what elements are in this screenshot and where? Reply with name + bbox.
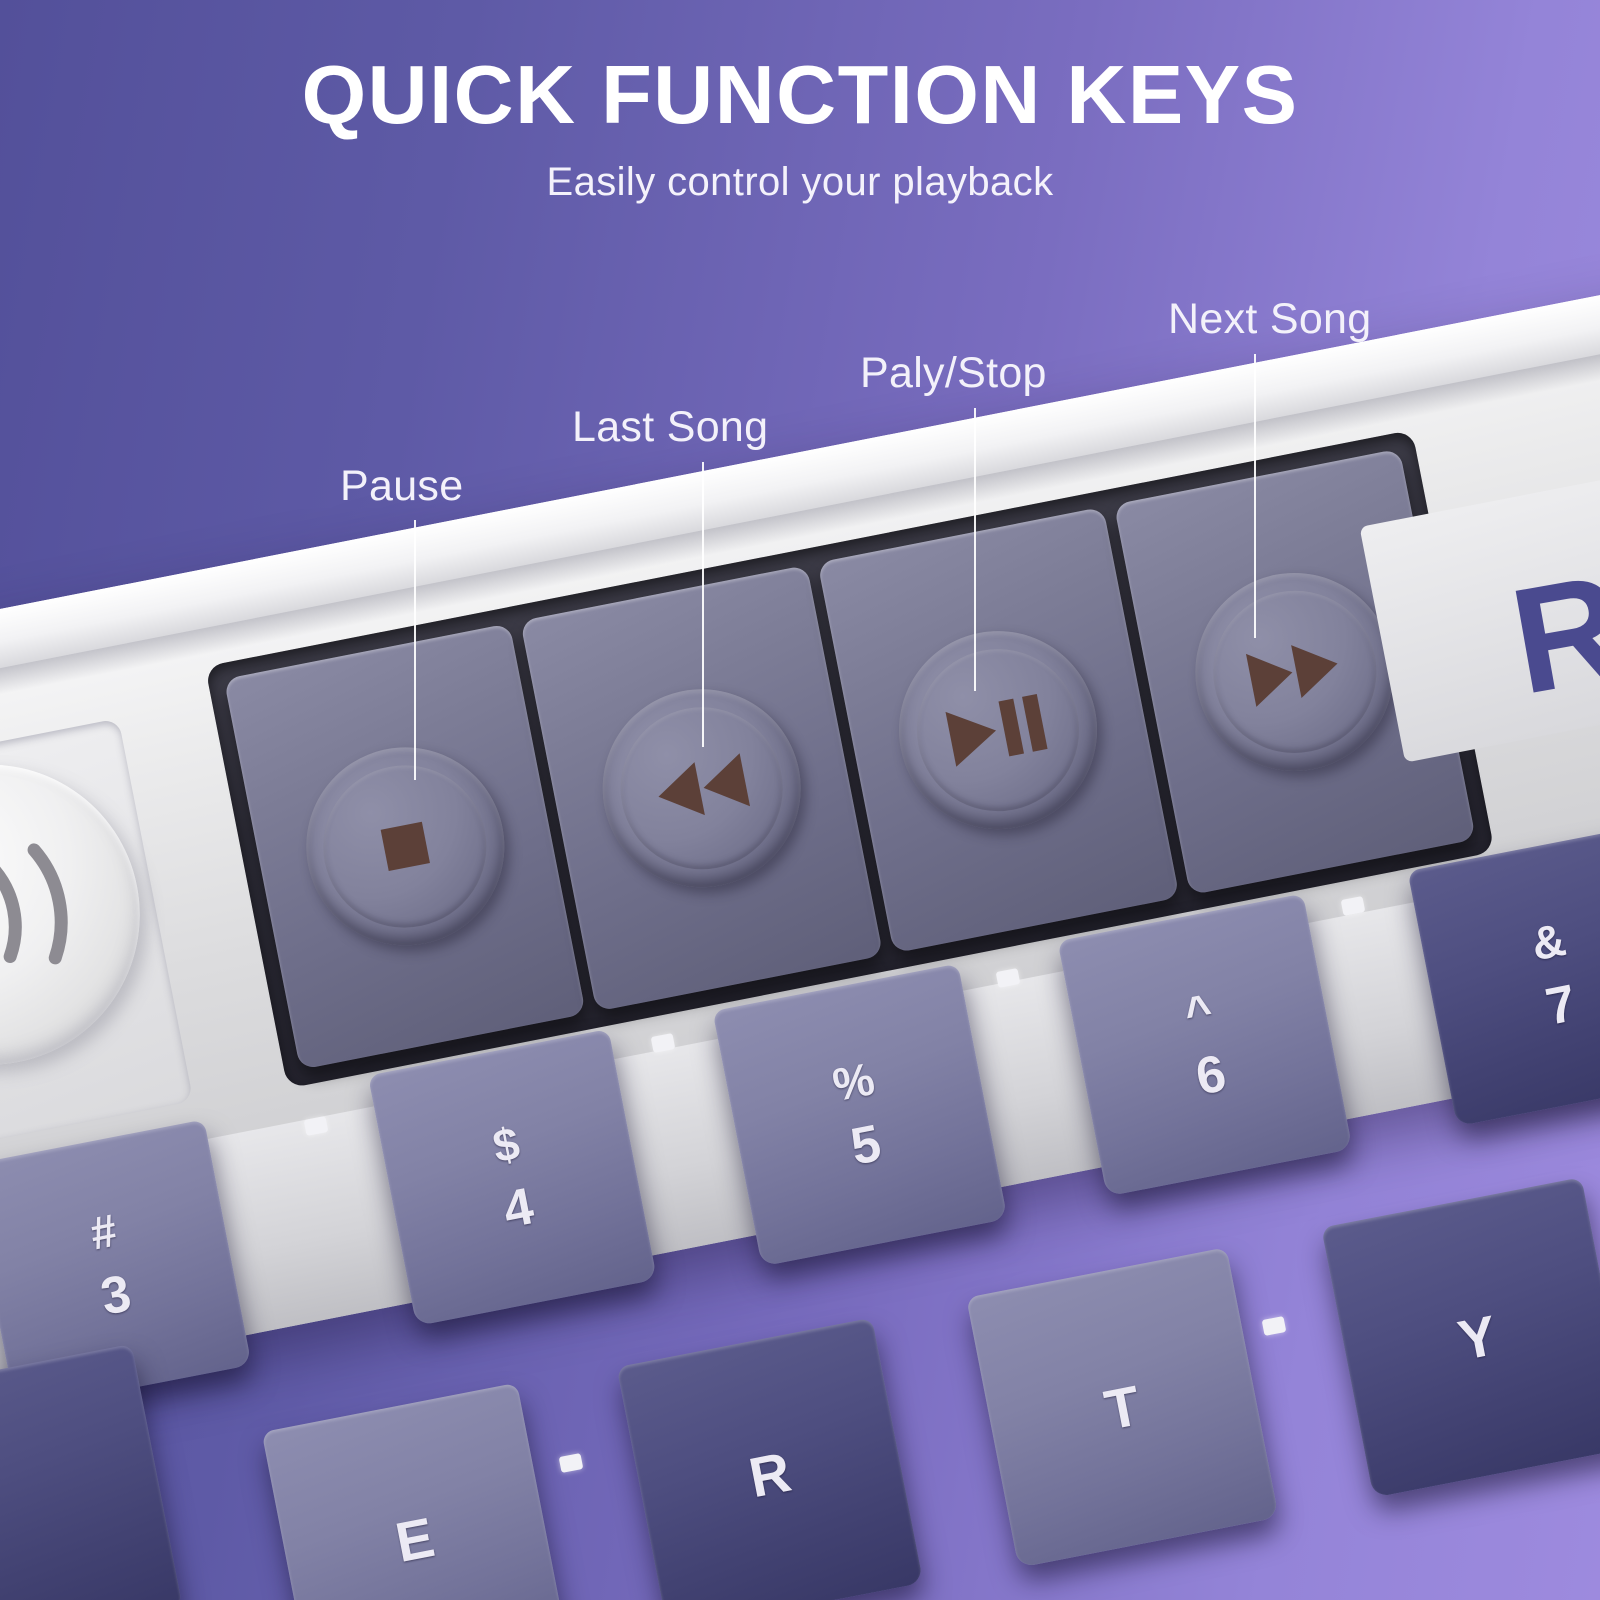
keycap-Y[interactable]: Y [1321, 1177, 1600, 1498]
keycap-base-label: 3 [97, 1267, 135, 1324]
keycap-R[interactable]: R [617, 1318, 924, 1600]
fast-forward-icon [1241, 630, 1348, 713]
last-song-key-disc [585, 672, 817, 904]
switch-stem [559, 1453, 584, 1473]
switch-stem [1262, 1316, 1287, 1336]
play-stop-key-disc [882, 614, 1114, 846]
keycap-T[interactable]: T [966, 1247, 1279, 1568]
keycap-5[interactable]: % 5 [712, 964, 1007, 1267]
keycap-shift-label: % [829, 1055, 878, 1108]
keycap-base-label: E [391, 1509, 438, 1571]
keycap-shift-label: $ [489, 1119, 523, 1169]
keycap-base-label: 5 [847, 1117, 885, 1174]
keycap-shift-label: ^ [1181, 986, 1216, 1036]
page-subtitle: Easily control your playback [0, 160, 1600, 205]
keycap-shift-label: & [1528, 916, 1569, 967]
stop-square-icon [364, 805, 446, 887]
keycap-base-label: 7 [1542, 977, 1580, 1034]
product-photo: R [0, 0, 1600, 1600]
keycap-base-label: 6 [1192, 1047, 1230, 1104]
keycap-base-label: Y [1454, 1306, 1501, 1368]
keycap-base-label: R [745, 1444, 795, 1507]
page-title: QUICK FUNCTION KEYS [0, 52, 1600, 138]
keycap-6[interactable]: ^ 6 [1057, 894, 1352, 1197]
keycap-E[interactable]: E [262, 1383, 569, 1600]
rewind-icon [648, 747, 755, 830]
last-song-key[interactable] [520, 565, 882, 1012]
keycap-base-label: T [1100, 1377, 1144, 1439]
pause-key[interactable] [224, 623, 586, 1070]
pause-key-disc [289, 730, 521, 962]
keycap-base-label: 4 [499, 1180, 537, 1237]
keycap-shift-label: # [87, 1207, 121, 1257]
play-pause-icon [941, 688, 1056, 773]
play-stop-key[interactable] [817, 507, 1179, 954]
wireless-signal-icon [0, 833, 93, 996]
wireless-key-well [0, 718, 193, 1164]
header: QUICK FUNCTION KEYS Easily control your … [0, 0, 1600, 205]
keycap-4[interactable]: $ 4 [368, 1029, 657, 1326]
wireless-function-key[interactable] [0, 739, 166, 1091]
